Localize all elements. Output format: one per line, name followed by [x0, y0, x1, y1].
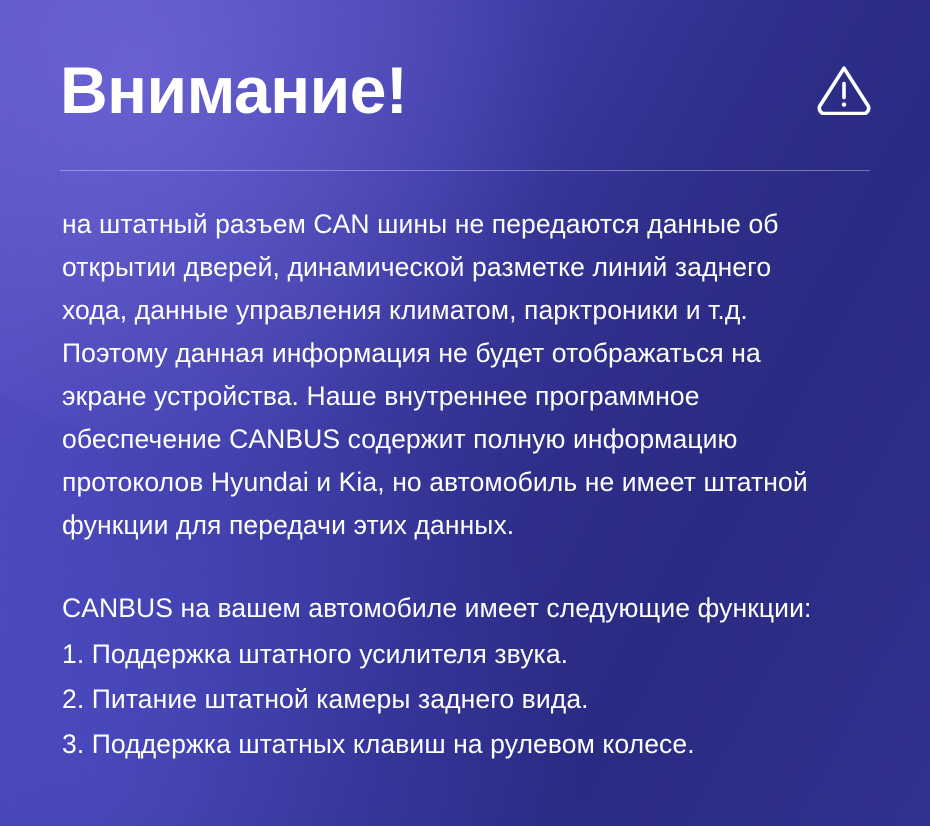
paragraph-line: экране устройства. Наше внутреннее прогр… — [62, 375, 884, 418]
warning-banner: Внимание! на штатный разъем CAN шины не … — [0, 0, 930, 826]
paragraph-line: открытии дверей, динамической разметке л… — [62, 246, 884, 289]
list-item: 3. Поддержка штатных клавиш на рулевом к… — [62, 722, 884, 767]
functions-list-intro: CANBUS на вашем автомобиле имеет следующ… — [62, 586, 884, 631]
list-item: 1. Поддержка штатного усилителя звука. — [62, 632, 884, 677]
warning-triangle-icon — [816, 63, 872, 115]
page-title: Внимание! — [60, 52, 407, 128]
notice-paragraph: на штатный разъем CAN шины не передаются… — [62, 203, 884, 547]
paragraph-line: хода, данные управления климатом, парктр… — [62, 289, 884, 332]
paragraph-line: обеспечение CANBUS содержит полную инфор… — [62, 418, 884, 461]
paragraph-line: Поэтому данная информация не будет отобр… — [62, 332, 884, 375]
paragraph-line: функции для передачи этих данных. — [62, 504, 884, 547]
banner-header: Внимание! — [60, 52, 872, 142]
functions-list-section: CANBUS на вашем автомобиле имеет следующ… — [62, 586, 884, 767]
list-item: 2. Питание штатной камеры заднего вида. — [62, 677, 884, 722]
paragraph-line: протоколов Hyundai и Kia, но автомобиль … — [62, 461, 884, 504]
paragraph-line: на штатный разъем CAN шины не передаются… — [62, 203, 884, 246]
header-divider — [60, 170, 870, 171]
